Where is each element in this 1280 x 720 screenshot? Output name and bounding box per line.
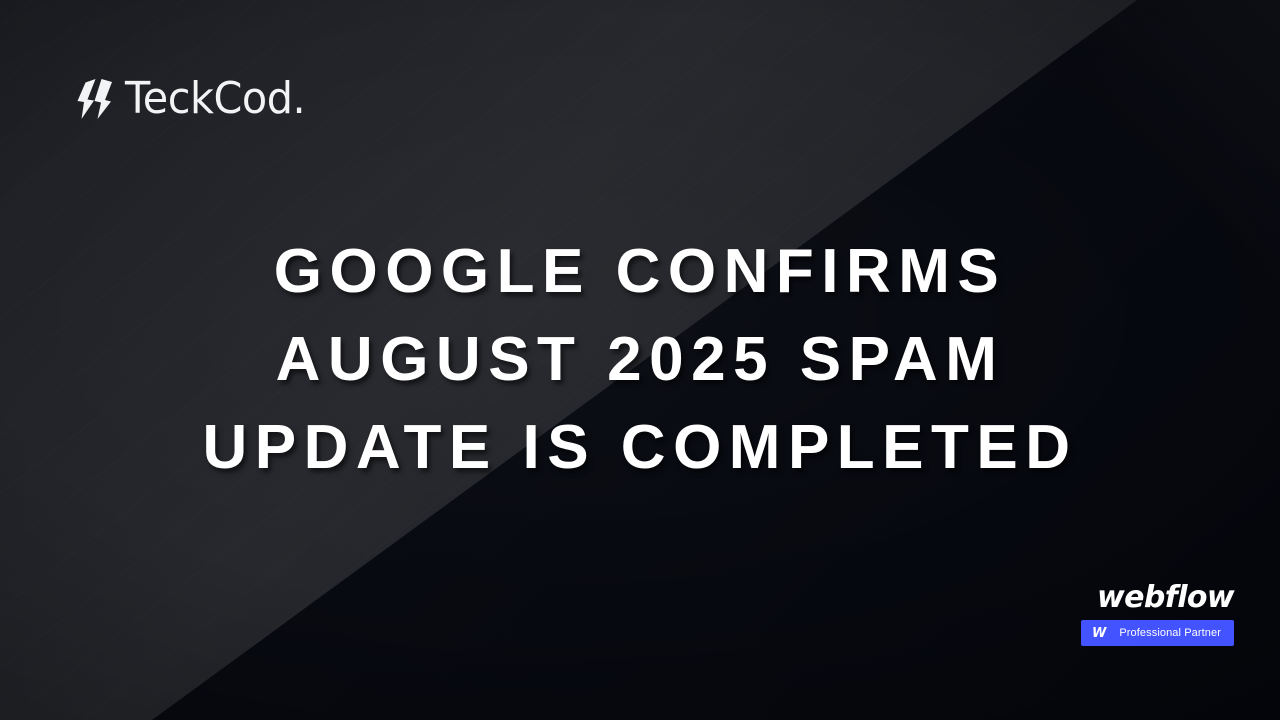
headline-line-3: UPDATE IS COMPLETED	[60, 404, 1220, 492]
headline-line-1: GOOGLE CONFIRMS	[60, 228, 1220, 316]
webflow-wordmark: webflow	[1097, 583, 1234, 613]
status-badge[interactable]: W Professional Partner	[1081, 620, 1234, 646]
slide-canvas: TeckCod. GOOGLE CONFIRMS AUGUST 2025 SPA…	[0, 0, 1280, 720]
double-chevron-mark-icon	[76, 76, 116, 122]
brand-wordmark: TeckCod.	[125, 77, 305, 121]
headline-line-2: AUGUST 2025 SPAM	[60, 316, 1220, 404]
webflow-w-icon: W	[1092, 627, 1106, 640]
brand-wordmark-text: TeckCod.	[125, 73, 305, 124]
brand-logo[interactable]: TeckCod.	[76, 76, 317, 122]
webflow-partner-block[interactable]: webflow W Professional Partner	[1081, 583, 1234, 646]
page-title: GOOGLE CONFIRMS AUGUST 2025 SPAM UPDATE …	[0, 228, 1280, 492]
partner-badge-label: Professional Partner	[1119, 628, 1221, 639]
